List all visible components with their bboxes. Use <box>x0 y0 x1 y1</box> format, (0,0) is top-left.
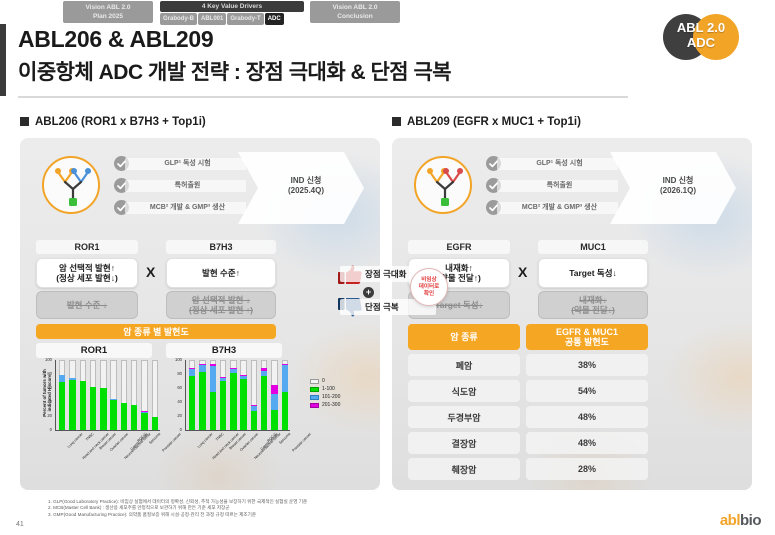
validation-stamp: 비임상 데이터로 확인 <box>410 268 448 306</box>
bar-segment-1-100 <box>80 381 86 430</box>
target-header-b7h3: B7H3 <box>166 240 276 254</box>
chart-ror1-ytick-40: 40 <box>40 400 52 404</box>
bar-column <box>80 360 86 430</box>
bar-segment-1-100 <box>210 392 216 431</box>
target-box-ror1-active: 암 선택적 발현↑ (정상 세포 발현↓) <box>36 258 138 288</box>
bar-column <box>110 360 116 430</box>
nav-center-cap: 4 Key Value Drivers <box>160 1 304 12</box>
bar-segment-201-300 <box>251 405 257 406</box>
brand-badge: ABL 2.0 ADC <box>645 8 757 66</box>
checklist-row-1: GLP¹ 독성 시험 <box>114 156 246 171</box>
bar-segment-1-100 <box>282 392 288 431</box>
b7h3-active-line1: 발현 수준↑ <box>202 268 240 278</box>
bar-segment-201-300 <box>261 368 267 370</box>
table-header-expression: EGFR & MUC1 공통 발현도 <box>526 324 648 350</box>
legend-swatch-3 <box>310 403 319 408</box>
bar-segment-101-200 <box>141 412 147 413</box>
table-row-cancer-0: 폐암 <box>408 354 520 376</box>
bar-segment-1-100 <box>131 405 137 430</box>
table-header-expression-line1: EGFR & MUC1 <box>556 327 618 337</box>
nav-right-line2: Conclusion <box>337 13 372 20</box>
operator-x-left: X <box>146 264 155 280</box>
bar-segment-101-200 <box>189 369 195 376</box>
checklist-row-3: MCB² 개발 & GMP³ 생산 <box>486 200 618 215</box>
target-header-muc1: MUC1 <box>538 240 648 254</box>
bar-segment-1-100 <box>141 413 147 431</box>
bispecific-antibody-glyph <box>416 158 474 216</box>
nav-left-cap[interactable]: Vision ABL 2.0 Plan 2025 <box>63 1 153 23</box>
nav-item-grabody-b[interactable]: Grabody-B <box>160 13 197 25</box>
checklist-label-2: 특허출원 <box>497 180 618 192</box>
muc1-active-line1: Target 독성↓ <box>569 268 617 278</box>
bar-column <box>271 360 277 430</box>
bar-column <box>220 360 226 430</box>
bar-column <box>251 360 257 430</box>
x-tick-label: TNBC <box>85 432 95 442</box>
legend-swatch-1 <box>310 387 319 392</box>
nav-left-line2: Plan 2025 <box>93 13 123 20</box>
badge-line2: ADC <box>687 35 715 50</box>
bar-column <box>199 360 205 430</box>
target-header-egfr: EGFR <box>408 240 510 254</box>
checklist-row-1: GLP¹ 독성 시험 <box>486 156 618 171</box>
chart-b7h3-ytick-100: 100 <box>170 358 182 362</box>
chart-b7h3-ytick-80: 80 <box>170 372 182 376</box>
logo-part2: bio <box>740 512 761 529</box>
header-divider <box>18 96 628 98</box>
target-box-muc1-muted: 내재화↓ (약물 전달↓) <box>538 291 648 319</box>
checklist-label-2: 특허출원 <box>125 180 246 192</box>
bar-column <box>90 360 96 430</box>
bar-column <box>141 360 147 430</box>
bar-segment-1-100 <box>90 387 96 430</box>
milestone-line2: (2025.4Q) <box>288 186 324 195</box>
target-box-b7h3-muted: 암 선택적 발현 ↓ (정상 세포 발현 ↑) <box>166 291 276 319</box>
right-panel-content: GLP¹ 독성 시험 특허출원 MCB² 개발 & GMP³ 생산 IND 신청… <box>392 138 752 490</box>
bar-segment-201-300 <box>282 364 288 365</box>
legend-label-0: 0 <box>322 378 325 385</box>
bar-segment-101-200 <box>210 366 216 392</box>
page-title: ABL206 & ABL209 이중항체 ADC 개발 전략 : 장점 극대화 … <box>18 26 618 86</box>
legend-label-2: 101-200 <box>322 394 340 401</box>
muc1-muted-line2: (약물 전달↓) <box>571 305 615 315</box>
operator-x-right: X <box>518 264 527 280</box>
bar-column <box>261 360 267 430</box>
bar-column <box>121 360 127 430</box>
nav-left-line1: Vision ABL 2.0 <box>85 4 130 11</box>
table-row-value-1: 54% <box>526 380 648 402</box>
chart-b7h3-bars <box>187 360 290 430</box>
bar-segment-101-200 <box>230 369 236 373</box>
milestone-line1: IND 신청 <box>663 176 694 185</box>
footnote-3: 3. GMP(Good Manufacturing Practice): 의약품… <box>48 512 468 518</box>
header-accent-bar <box>0 24 6 96</box>
nav-group-center: 4 Key Value Drivers Grabody-B ABL001 Gra… <box>160 1 705 25</box>
bar-segment-1-100 <box>69 380 75 430</box>
legend-label-1: 1-100 <box>322 386 335 393</box>
table-row-cancer-2: 두경부암 <box>408 406 520 428</box>
bar-segment-1-100 <box>100 388 106 430</box>
chart-b7h3: 100 80 60 40 20 0 Lung cancerHead and ne… <box>164 360 300 478</box>
bar-segment-1-100 <box>152 417 158 430</box>
bar-segment-1-100 <box>189 376 195 430</box>
bar-segment-1-100 <box>220 381 226 430</box>
bispecific-antibody-glyph <box>44 158 102 216</box>
b7h3-muted-line1: 암 선택적 발현 ↓ <box>192 295 250 305</box>
stamp-line2: 데이터로 <box>419 284 440 290</box>
bar-segment-101-200 <box>271 394 277 411</box>
table-row-value-2: 48% <box>526 406 648 428</box>
bar-segment-1-100 <box>261 376 267 430</box>
chart-ror1: Percent of tumors withindicated H-score … <box>34 360 170 478</box>
bar-segment-1-100 <box>59 382 65 430</box>
right-section-title: ABL209 (EGFR x MUC1 + Top1i) <box>392 116 581 128</box>
bar-segment-201-300 <box>271 385 277 393</box>
nav-right-cap[interactable]: Vision ABL 2.0 Conclusion <box>310 1 400 23</box>
badge-line1: ABL 2.0 <box>677 20 725 35</box>
bar-segment-101-200 <box>199 365 205 372</box>
nav-center-items: Grabody-B ABL001 Grabody-T ADC <box>160 13 705 25</box>
bullet-square-icon <box>392 117 401 126</box>
muc1-muted-line1: 내재화↓ <box>579 295 607 305</box>
bar-segment-201-300 <box>210 364 216 365</box>
chart-title-b7h3: B7H3 <box>166 343 282 358</box>
target-box-b7h3-active: 발현 수준↑ <box>166 258 276 288</box>
checklist-label-1: GLP¹ 독성 시험 <box>497 158 618 170</box>
page-title-line1: ABL206 & ABL209 <box>18 26 618 53</box>
bar-segment-201-300 <box>220 377 226 378</box>
bar-segment-101-200 <box>240 375 246 379</box>
bar-segment-201-300 <box>189 368 195 369</box>
x-tick-label: Lung cancer <box>67 432 84 449</box>
chart-b7h3-ytick-0: 0 <box>170 428 182 432</box>
nav-item-grabody-t[interactable]: Grabody-T <box>227 13 263 25</box>
bar-segment-201-300 <box>230 368 236 369</box>
bar-segment-101-200 <box>251 406 257 411</box>
bar-segment-1-100 <box>121 403 127 430</box>
bar-column <box>152 360 158 430</box>
checklist-row-2: 특허출원 <box>486 178 618 193</box>
bar-column <box>69 360 75 430</box>
nav-item-adc[interactable]: ADC <box>265 13 284 25</box>
bar-segment-1-100 <box>240 379 246 430</box>
table-row-cancer-1: 식도암 <box>408 380 520 402</box>
bar-segment-101-200 <box>59 375 65 381</box>
chart-ror1-bars <box>57 360 160 430</box>
page-number: 41 <box>16 521 24 528</box>
nav-group-left[interactable]: Vision ABL 2.0 Plan 2025 <box>63 1 153 23</box>
table-row-cancer-4: 췌장암 <box>408 458 520 480</box>
right-panel: GLP¹ 독성 시험 특허출원 MCB² 개발 & GMP³ 생산 IND 신청… <box>392 138 752 490</box>
chart-ror1-xticklabels: Lung cancerHead and neck cancerTNBCBreas… <box>57 432 160 472</box>
table-row-value-3: 48% <box>526 432 648 454</box>
target-box-muc1-active: Target 독성↓ <box>538 258 648 288</box>
chart-ror1-ytick-20: 20 <box>40 414 52 418</box>
bar-segment-1-100 <box>271 410 277 430</box>
bar-segment-1-100 <box>110 399 116 430</box>
antibody-icon-right <box>414 156 472 214</box>
milestone-line1: IND 신청 <box>291 176 322 185</box>
legend-swatch-2 <box>310 395 319 400</box>
chart-ror1-ytick-60: 60 <box>40 386 52 390</box>
table-header-cancer-type: 암 종류 <box>408 324 520 350</box>
milestone-text-left: IND 신청 (2025.4Q) <box>260 176 352 196</box>
chart-ror1-ytick-0: 0 <box>40 428 52 432</box>
ror1-active-line1: 암 선택적 발현↑ <box>59 263 115 273</box>
table-row-cancer-3: 결장암 <box>408 432 520 454</box>
bar-segment-101-200 <box>69 378 75 380</box>
bar-segment-201-300 <box>141 411 147 412</box>
bar-segment-201-300 <box>199 364 205 365</box>
left-panel: GLP¹ 독성 시험 특허출원 MCB² 개발 & GMP³ 생산 IND 신청… <box>20 138 380 490</box>
page-title-line2: 이중항체 ADC 개발 전략 : 장점 극대화 & 단점 극복 <box>18 56 618 86</box>
legend-swatch-0 <box>310 379 319 384</box>
ror1-muted-line1: 발현 수준 ↓ <box>67 300 107 310</box>
legend-label-3: 201-300 <box>322 402 340 409</box>
nav-right-line1: Vision ABL 2.0 <box>332 4 377 11</box>
antibody-icon-left <box>42 156 100 214</box>
nav-item-abl001[interactable]: ABL001 <box>198 13 226 25</box>
badge-text: ABL 2.0 ADC <box>663 20 739 50</box>
chart-legend: 0 1-100 101-200 201-300 <box>310 378 372 412</box>
chart-b7h3-ytick-60: 60 <box>170 386 182 390</box>
bar-column <box>240 360 246 430</box>
bar-segment-101-200 <box>261 371 267 377</box>
milestone-line2: (2026.1Q) <box>660 186 696 195</box>
table-row-value-4: 28% <box>526 458 648 480</box>
checklist-row-3: MCB² 개발 & GMP³ 생산 <box>114 200 246 215</box>
chart-b7h3-ytick-20: 20 <box>170 414 182 418</box>
stamp-line3: 확인 <box>424 291 434 297</box>
chart-ror1-ytick-80: 80 <box>40 372 52 376</box>
bar-column <box>210 360 216 430</box>
x-tick-label: TNBC <box>215 432 225 442</box>
chart-b7h3-yaxis <box>185 360 186 431</box>
egfr-active-line1: 내재화↑ <box>445 263 473 273</box>
milestone-text-right: IND 신청 (2026.1Q) <box>632 176 724 196</box>
chart-b7h3-ytick-40: 40 <box>170 400 182 404</box>
b7h3-muted-line2: (정상 세포 발현 ↑) <box>189 305 253 315</box>
checklist-label-3: MCB² 개발 & GMP³ 생산 <box>497 202 618 214</box>
x-tick-label: Prostate cancer <box>291 432 312 453</box>
left-panel-content: GLP¹ 독성 시험 특허출원 MCB² 개발 & GMP³ 생산 IND 신청… <box>20 138 380 490</box>
table-header-expression-line2: 공통 발현도 <box>565 337 609 347</box>
table-row-value-0: 38% <box>526 354 648 376</box>
bar-segment-101-200 <box>220 378 226 382</box>
bar-segment-101-200 <box>110 399 116 400</box>
left-section-title: ABL206 (ROR1 x B7H3 + Top1i) <box>20 116 206 128</box>
bar-column <box>189 360 195 430</box>
verdict-plus-icon: + <box>363 287 374 298</box>
corporate-logo: ablbio <box>720 512 761 529</box>
chart-band-title-left: 암 종류 별 발현도 <box>36 324 276 339</box>
target-header-ror1: ROR1 <box>36 240 138 254</box>
chart-ror1-ytick-100: 100 <box>40 358 52 362</box>
bar-column <box>282 360 288 430</box>
bar-segment-1-100 <box>199 372 205 430</box>
target-box-ror1-muted: 발현 수준 ↓ <box>36 291 138 319</box>
bar-segment-1-100 <box>230 373 236 430</box>
bar-column <box>131 360 137 430</box>
egfr-muted-line1: Target 독성↓ <box>435 300 483 310</box>
bar-segment-201-300 <box>240 375 246 376</box>
nav-group-right[interactable]: Vision ABL 2.0 Conclusion <box>310 1 400 23</box>
bullet-square-icon <box>20 117 29 126</box>
bar-column <box>59 360 65 430</box>
bar-segment-1-100 <box>251 411 257 430</box>
bar-segment-101-200 <box>282 365 288 392</box>
footnotes: 1. GLP(Good Laboratory Practice): 비임상 실험… <box>48 499 468 518</box>
x-tick-label: Lung cancer <box>197 432 214 449</box>
bar-column <box>100 360 106 430</box>
logo-part1: abl <box>720 512 740 529</box>
ror1-active-line2: (정상 세포 발현↓) <box>56 273 118 283</box>
stamp-line1: 비임상 <box>421 277 436 283</box>
chart-b7h3-xticklabels: Lung cancerHead and neck cancerTNBCBreas… <box>187 432 290 472</box>
checklist-label-1: GLP¹ 독성 시험 <box>125 158 246 170</box>
chart-title-ror1: ROR1 <box>36 343 152 358</box>
checklist-label-3: MCB² 개발 & GMP³ 생산 <box>125 202 246 214</box>
chart-ror1-yaxis <box>55 360 56 431</box>
bar-column <box>230 360 236 430</box>
checklist-row-2: 특허출원 <box>114 178 246 193</box>
